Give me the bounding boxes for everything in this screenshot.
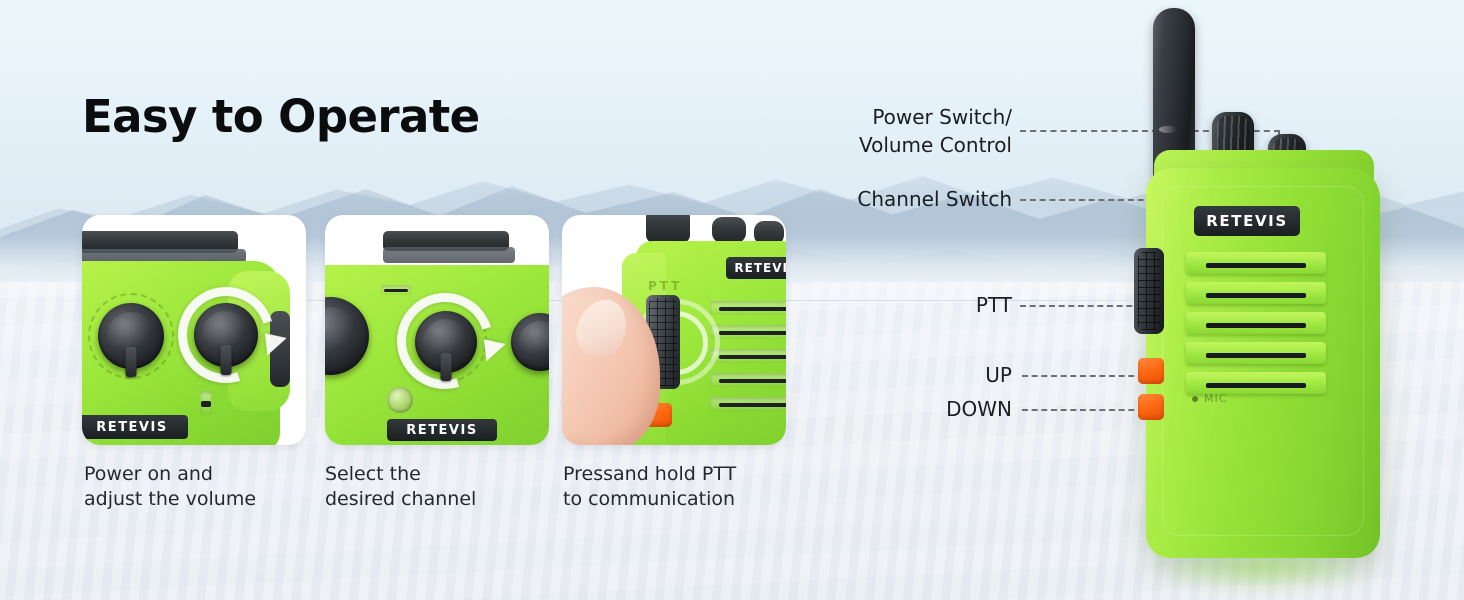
knob-top	[712, 217, 746, 243]
speaker-slot	[710, 325, 786, 339]
infographic-canvas: Easy to Operate RETEVIS Power on and adj…	[0, 0, 1464, 600]
leader-line-down	[1022, 409, 1144, 411]
speaker-slot	[710, 301, 786, 315]
step-card-press-ptt: RETEVIS PTT	[562, 215, 786, 445]
down-button[interactable]	[1138, 394, 1164, 420]
callout-line-1: Power Switch/	[859, 104, 1012, 132]
page-title: Easy to Operate	[82, 90, 480, 143]
power-switch-knob[interactable]	[194, 303, 258, 367]
callout-ptt: PTT	[976, 292, 1012, 320]
step-caption-press-ptt: Pressand hold PTT to communication	[563, 462, 813, 512]
ptt-embossed-label: PTT	[648, 279, 682, 293]
speaker-slot	[1186, 252, 1326, 274]
callout-channel-switch: Channel Switch	[857, 186, 1012, 214]
speaker-slot	[1186, 342, 1326, 364]
callout-line-1: DOWN	[946, 396, 1012, 424]
speaker-grille	[1186, 252, 1326, 402]
callout-line-2: Volume Control	[859, 132, 1012, 160]
brand-badge: RETEVIS	[726, 257, 786, 279]
product-photo-walkie-talkie: RETEVIS MIC	[1128, 0, 1408, 600]
antenna-collar	[383, 247, 515, 263]
antenna-stub	[646, 215, 690, 243]
housing-vent	[200, 391, 212, 415]
callout-line-1: Channel Switch	[857, 186, 1012, 214]
volume-knob[interactable]	[98, 303, 164, 369]
housing-vent	[381, 285, 411, 295]
caption-line-2: to communication	[563, 487, 813, 512]
speaker-slot	[710, 397, 786, 411]
leader-line-up	[1022, 375, 1144, 377]
step-caption-select-channel: Select the desired channel	[325, 462, 575, 512]
caption-line-1: Select the	[325, 462, 575, 487]
callout-line-1: PTT	[976, 292, 1012, 320]
speaker-slot	[1186, 282, 1326, 304]
step-caption-power-on: Power on and adjust the volume	[84, 462, 334, 512]
callout-down: DOWN	[946, 396, 1012, 424]
callout-line-1: UP	[985, 362, 1012, 390]
mic-label: MIC	[1204, 392, 1227, 405]
brand-badge: RETEVIS	[82, 415, 188, 439]
thumb-nail	[570, 293, 635, 364]
caption-line-1: Power on and	[84, 462, 334, 487]
caption-line-1: Pressand hold PTT	[563, 462, 813, 487]
caption-line-2: adjust the volume	[84, 487, 334, 512]
step-card-power-on: RETEVIS	[82, 215, 306, 445]
speaker-slot	[1186, 312, 1326, 334]
channel-switch-knob[interactable]	[415, 311, 477, 373]
ground-reflection	[1156, 556, 1370, 590]
speaker-slot	[710, 373, 786, 387]
caption-line-2: desired channel	[325, 487, 575, 512]
callout-power-switch: Power Switch/ Volume Control	[859, 104, 1012, 159]
brand-badge: RETEVIS	[387, 419, 497, 441]
step-card-select-channel: RETEVIS	[325, 215, 549, 445]
up-button[interactable]	[1138, 358, 1164, 384]
callout-up: UP	[985, 362, 1012, 390]
brand-badge: RETEVIS	[1194, 206, 1300, 236]
speaker-slot	[1186, 372, 1326, 394]
leader-line-ptt	[1020, 305, 1142, 307]
led-indicator	[387, 387, 413, 413]
speaker-slot	[710, 349, 786, 363]
ptt-button[interactable]	[1134, 248, 1164, 334]
